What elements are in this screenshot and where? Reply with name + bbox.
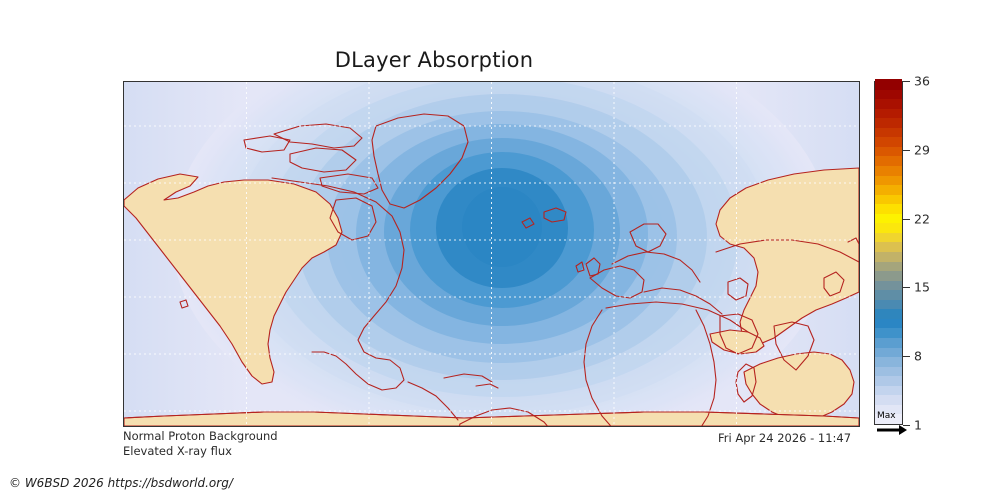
- colorbar-segment: [875, 242, 902, 252]
- colorbar-segment: [875, 108, 902, 118]
- colorbar-segment: [875, 404, 902, 414]
- colorbar-segment: [875, 337, 902, 347]
- colorbar-segment: [875, 280, 902, 290]
- colorbar-axis-label: Affected Frequency (MHz): [904, 81, 1000, 425]
- colorbar-segment: [875, 357, 902, 367]
- colorbar-segment: [875, 223, 902, 233]
- colorbar-segment: [875, 251, 902, 261]
- map-svg: [124, 82, 859, 426]
- colorbar-segment: [875, 385, 902, 395]
- colorbar-segment: [875, 175, 902, 185]
- colorbar-tick-mark: [903, 425, 910, 426]
- colorbar-segment: [875, 376, 902, 386]
- colorbar-segment: [875, 165, 902, 175]
- colorbar-segment: [875, 156, 902, 166]
- page-title: DLayer Absorption: [0, 48, 868, 72]
- colorbar-segment: [875, 232, 902, 242]
- colorbar[interactable]: Max 3629221581: [874, 81, 903, 425]
- colorbar-segment: [875, 261, 902, 271]
- colorbar-segment: [875, 89, 902, 99]
- dlayer-absorption-chart: DLayer Absorption: [0, 0, 1000, 500]
- copyright-notice: © W6BSD 2026 https://bsdworld.org/: [9, 476, 233, 490]
- colorbar-segment: [875, 185, 902, 195]
- colorbar-gradient: [874, 81, 903, 425]
- world-map-plot[interactable]: [123, 81, 860, 427]
- colorbar-segment: [875, 395, 902, 405]
- colorbar-segment: [875, 366, 902, 376]
- colorbar-segment: [875, 347, 902, 357]
- colorbar-segment: [875, 414, 902, 424]
- colorbar-segment: [875, 309, 902, 319]
- colorbar-segment: [875, 146, 902, 156]
- colorbar-segment: [875, 299, 902, 309]
- colorbar-segment: [875, 271, 902, 281]
- colorbar-segment: [875, 127, 902, 137]
- status-xray-flux: Elevated X-ray flux: [123, 444, 232, 458]
- colorbar-segment: [875, 194, 902, 204]
- colorbar-segment: [875, 99, 902, 109]
- colorbar-segment: [875, 290, 902, 300]
- colorbar-segment: [875, 79, 902, 89]
- colorbar-segment: [875, 318, 902, 328]
- colorbar-segment: [875, 118, 902, 128]
- timestamp: Fri Apr 24 2026 - 11:47: [718, 431, 851, 445]
- colorbar-segment: [875, 328, 902, 338]
- status-proton-background: Normal Proton Background: [123, 429, 278, 443]
- colorbar-segment: [875, 137, 902, 147]
- colorbar-segment: [875, 204, 902, 214]
- colorbar-segment: [875, 213, 902, 223]
